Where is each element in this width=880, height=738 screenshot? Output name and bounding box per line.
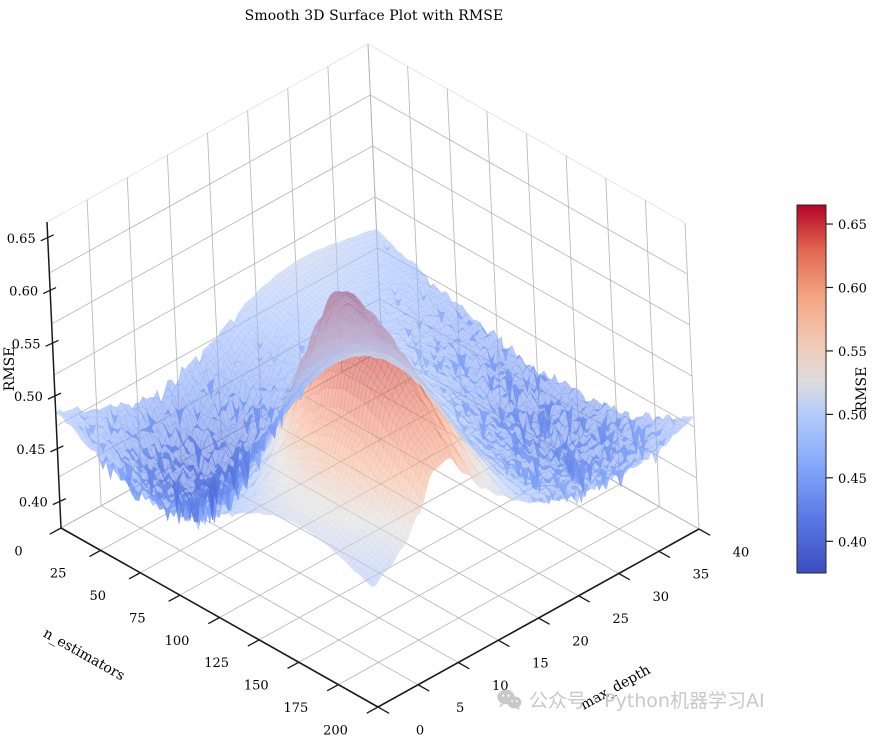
colorbar-tick-label: 0.55 xyxy=(838,345,867,360)
x-tick-label: 175 xyxy=(283,701,308,716)
wechat-icon xyxy=(497,689,522,710)
y-tick-label: 35 xyxy=(693,568,710,583)
z-tick-label: 0.45 xyxy=(16,443,45,458)
x-tick-label: 100 xyxy=(165,634,190,649)
x-tick-label: 125 xyxy=(204,656,229,671)
z-axis-title: RMSE xyxy=(2,347,18,392)
x-tick-label: 0 xyxy=(14,544,22,559)
z-tick-label: 0.60 xyxy=(9,285,38,300)
y-tick-label: 15 xyxy=(532,657,549,672)
y-tick-label: 25 xyxy=(612,612,629,627)
x-tick-label: 200 xyxy=(323,723,348,738)
colorbar-gradient xyxy=(797,205,826,573)
x-tick-label: 25 xyxy=(50,567,67,582)
y-tick-label: 20 xyxy=(572,634,589,649)
colorbar-tick-label: 0.40 xyxy=(838,535,867,550)
watermark-text: 公众号 · Python机器学习AI xyxy=(529,686,765,713)
z-tick-label: 0.65 xyxy=(7,232,36,247)
watermark: 公众号 · Python机器学习AI xyxy=(497,686,765,713)
y-tick-label: 0 xyxy=(416,723,424,738)
surface-plot-3d: 0.400.450.500.550.600.650255075100125150… xyxy=(0,0,880,738)
y-tick-label: 5 xyxy=(456,701,464,716)
figure-canvas: Smooth 3D Surface Plot with RMSE 0.400.4… xyxy=(0,0,880,738)
x-tick-label: 75 xyxy=(129,611,146,626)
y-tick-label: 30 xyxy=(653,590,670,605)
x-tick-label: 50 xyxy=(89,589,106,604)
z-tick-label: 0.40 xyxy=(19,496,48,511)
colorbar-tick-label: 0.60 xyxy=(838,281,867,296)
x-tick-label: 150 xyxy=(244,679,269,694)
z-tick-label: 0.50 xyxy=(14,390,43,405)
surface-mesh xyxy=(56,229,694,587)
colorbar-tick-label: 0.65 xyxy=(838,218,867,233)
colorbar[interactable]: 0.400.450.500.550.600.65 RMSE xyxy=(797,205,870,573)
colorbar-tick-label: 0.45 xyxy=(838,472,867,487)
y-tick-label: 40 xyxy=(733,545,750,560)
colorbar-label: RMSE xyxy=(854,367,870,412)
x-axis-title: n_estimators xyxy=(40,625,127,684)
